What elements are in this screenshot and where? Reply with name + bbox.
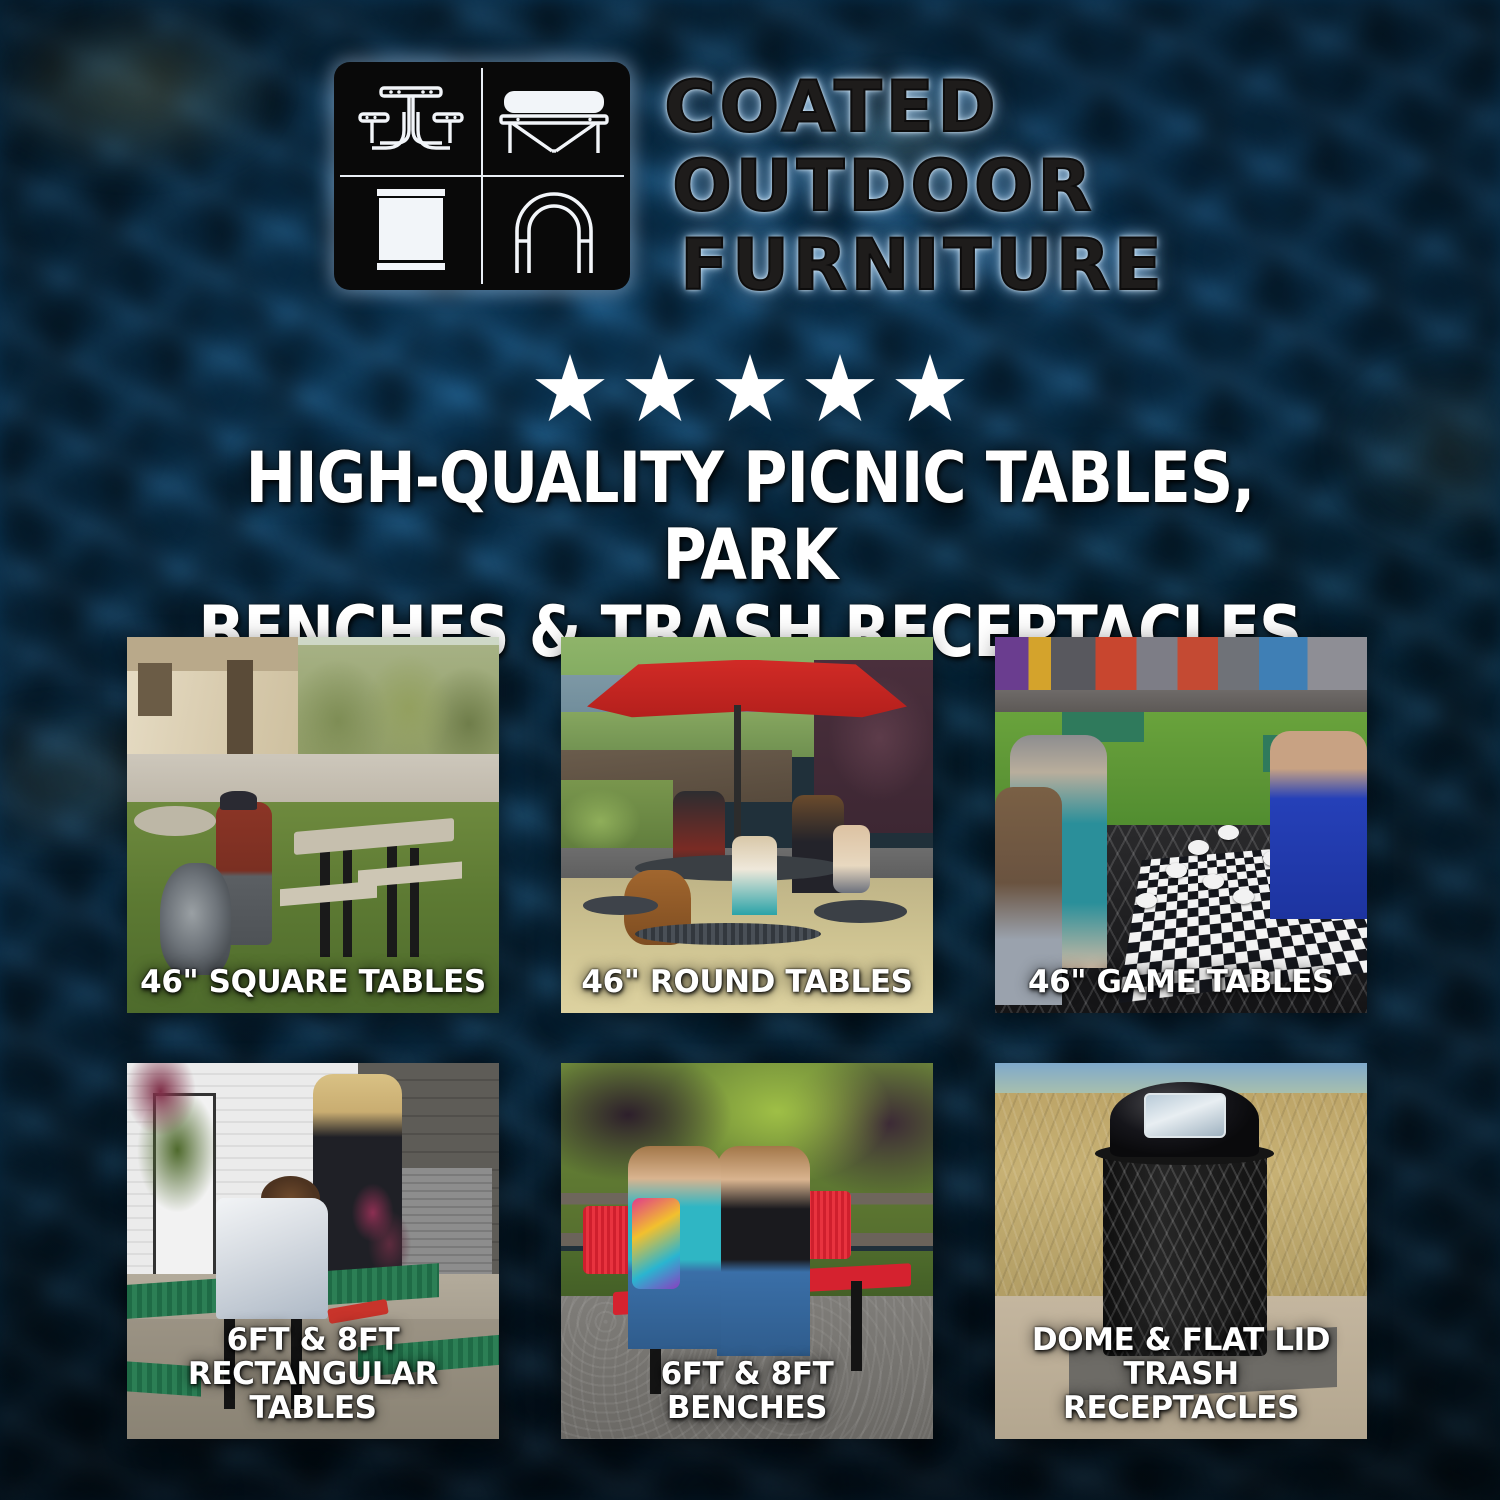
- tile-caption-line-2: RECTANGULAR TABLES: [133, 1357, 493, 1425]
- park-bench-icon: [482, 68, 624, 176]
- square-tables-photo: [127, 637, 499, 1013]
- tile-caption-line-1: 46" GAME TABLES: [1001, 965, 1361, 999]
- product-tile-round-tables[interactable]: 46" ROUND TABLES: [561, 637, 933, 1013]
- logo-mark: [334, 62, 630, 290]
- product-poster: COATED OUTDOOR FURNITURE HIGH-QUALITY PI…: [0, 0, 1500, 1500]
- star-rating: [0, 352, 1500, 424]
- logo-line-3: FURNITURE: [664, 226, 1166, 305]
- product-tile-game-tables[interactable]: 46" GAME TABLES: [995, 637, 1367, 1013]
- star-icon: [713, 352, 787, 424]
- star-icon: [803, 352, 877, 424]
- product-tile-square-tables[interactable]: 46" SQUARE TABLES: [127, 637, 499, 1013]
- tile-caption-line-1: DOME & FLAT LID: [1001, 1323, 1361, 1357]
- headline-line-1: HIGH-QUALITY PICNIC TABLES, PARK: [157, 440, 1344, 594]
- tile-caption: 46" SQUARE TABLES: [127, 965, 499, 999]
- product-tile-rectangular-tables[interactable]: 6FT & 8FT RECTANGULAR TABLES: [127, 1063, 499, 1439]
- dome-lid-trash-receptacle-icon: [482, 176, 624, 284]
- game-tables-photo: [995, 637, 1367, 1013]
- tile-caption: 46" GAME TABLES: [995, 965, 1367, 999]
- brand-logo: COATED OUTDOOR FURNITURE: [0, 62, 1500, 312]
- flat-lid-trash-receptacle-icon: [340, 176, 482, 284]
- tile-caption-line-2: BENCHES: [567, 1391, 927, 1425]
- picnic-table-icon: [340, 68, 482, 176]
- product-tile-benches[interactable]: 6FT & 8FT BENCHES: [561, 1063, 933, 1439]
- tile-caption-line-1: 46" ROUND TABLES: [567, 965, 927, 999]
- tile-caption: 46" ROUND TABLES: [561, 965, 933, 999]
- tile-caption: 6FT & 8FT RECTANGULAR TABLES: [127, 1323, 499, 1425]
- product-tile-trash-receptacles[interactable]: DOME & FLAT LID TRASH RECEPTACLES: [995, 1063, 1367, 1439]
- logo-wordmark: COATED OUTDOOR FURNITURE: [664, 62, 1166, 305]
- tile-caption-line-2: TRASH RECEPTACLES: [1001, 1357, 1361, 1425]
- tile-caption: 6FT & 8FT BENCHES: [561, 1357, 933, 1425]
- logo-line-1: COATED: [664, 68, 999, 147]
- tile-caption-line-1: 46" SQUARE TABLES: [133, 965, 493, 999]
- star-icon: [893, 352, 967, 424]
- logo-line-2: OUTDOOR: [664, 147, 1095, 226]
- product-grid: 46" SQUARE TABLES: [127, 637, 1379, 1439]
- tile-caption-line-1: 6FT & 8FT: [567, 1357, 927, 1391]
- tile-caption: DOME & FLAT LID TRASH RECEPTACLES: [995, 1323, 1367, 1425]
- star-icon: [623, 352, 697, 424]
- tile-caption-line-1: 6FT & 8FT: [133, 1323, 493, 1357]
- round-tables-photo: [561, 637, 933, 1013]
- star-icon: [533, 352, 607, 424]
